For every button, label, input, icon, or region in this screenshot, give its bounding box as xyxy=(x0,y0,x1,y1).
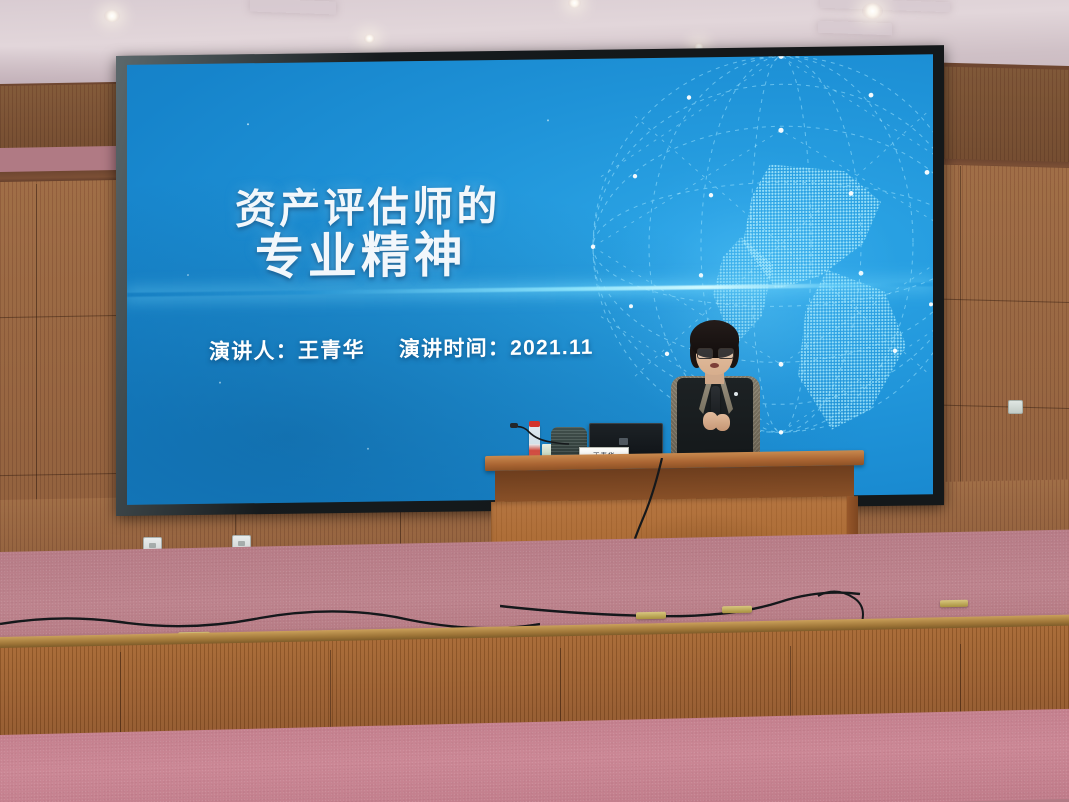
ceiling-panel xyxy=(818,21,892,36)
bottle-label xyxy=(529,444,540,456)
presenter-name: 王青华 xyxy=(298,339,365,363)
downlight-icon xyxy=(364,34,375,43)
sparkle-icon xyxy=(457,284,503,331)
gooseneck-microphone-icon xyxy=(510,423,572,445)
sparkle-dot xyxy=(247,123,249,125)
wall-panel-left-top xyxy=(0,84,122,148)
floor-plate xyxy=(940,600,968,608)
floor-plate xyxy=(636,612,666,620)
sparkle-icon xyxy=(831,233,857,259)
date-label: 演讲时间： xyxy=(399,337,510,361)
conference-hall-photo: 资产评估师的 专业精神 演讲人：王青华演讲时间：2021.11 xyxy=(0,0,1069,802)
laptop-logo-icon xyxy=(619,438,628,445)
presenter-label: 演讲人： xyxy=(209,340,298,364)
speaker xyxy=(665,318,765,463)
slide-subtitle: 演讲人：王青华演讲时间：2021.11 xyxy=(209,331,594,366)
glasses-icon xyxy=(697,348,732,357)
sparkle-icon xyxy=(551,285,585,319)
lapel-pin-icon xyxy=(734,392,738,396)
sparkle-icon xyxy=(777,152,799,174)
sparkle-icon xyxy=(619,394,641,416)
sparkle-icon xyxy=(897,404,919,426)
downlight-icon xyxy=(862,3,883,19)
sparkle-icon xyxy=(869,319,893,343)
sparkle-icon xyxy=(687,185,713,211)
floor-plate xyxy=(722,606,752,614)
sparkle-icon xyxy=(647,280,687,321)
mouth xyxy=(710,363,719,368)
date-value: 2021.11 xyxy=(510,336,594,360)
sparkle-dot xyxy=(187,274,189,276)
wall-seam xyxy=(36,184,37,539)
slide-title-line2: 专业精神 xyxy=(255,215,467,289)
downlight-icon xyxy=(104,10,120,22)
hand-right xyxy=(715,414,730,431)
sparkle-dot xyxy=(547,119,549,121)
wall-plate xyxy=(1008,400,1023,414)
sparkle-dot xyxy=(367,448,369,450)
sparkle-icon xyxy=(735,287,765,317)
sparkle-dot xyxy=(219,382,221,384)
wall-panel-left xyxy=(0,180,124,542)
